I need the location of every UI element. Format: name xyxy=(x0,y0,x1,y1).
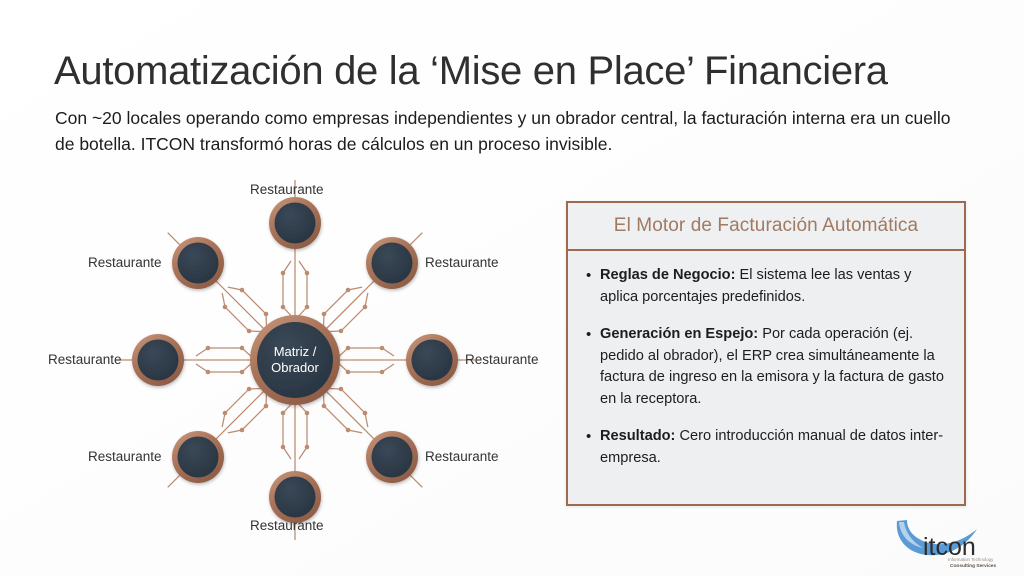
spoke-node-w[interactable] xyxy=(132,334,184,386)
spoke-node-se[interactable] xyxy=(366,431,418,483)
spoke-label-w: Restaurante xyxy=(48,352,122,368)
bullet-term: Resultado: xyxy=(600,428,675,444)
spoke-label-ne: Restaurante xyxy=(425,255,499,271)
slide-root: Automatización de la ‘Mise en Place’ Fin… xyxy=(0,0,1024,576)
bullet-item: • Generación en Espejo: Por cada operaci… xyxy=(586,324,944,410)
hub-label-line2: Obrador xyxy=(250,360,340,376)
info-panel-body: • Reglas de Negocio: El sistema lee las … xyxy=(568,251,964,479)
bullet-marker-icon: • xyxy=(586,324,600,410)
spoke-node-s[interactable] xyxy=(269,471,321,523)
spoke-label-n: Restaurante xyxy=(250,182,324,198)
bullet-item: • Reglas de Negocio: El sistema lee las … xyxy=(586,265,944,308)
info-panel-title: El Motor de Facturación Automática xyxy=(614,215,918,237)
itcon-logo: itcon Information Technology Consulting … xyxy=(893,511,1015,571)
spoke-node-sw[interactable] xyxy=(172,431,224,483)
bullet-marker-icon: • xyxy=(586,426,600,469)
spoke-label-s: Restaurante xyxy=(250,518,324,534)
bullet-marker-icon: • xyxy=(586,265,600,308)
bullet-item: • Resultado: Cero introducción manual de… xyxy=(586,426,944,469)
spoke-node-ne[interactable] xyxy=(366,237,418,289)
logo-tagline-line1: Information Technology xyxy=(948,557,994,562)
spoke-node-nw[interactable] xyxy=(172,237,224,289)
bullet-term: Reglas de Negocio: xyxy=(600,267,735,283)
itcon-logo-mark: itcon Information Technology Consulting … xyxy=(893,511,1015,571)
spoke-label-se: Restaurante xyxy=(425,449,499,465)
page-subtitle: Con ~20 locales operando como empresas i… xyxy=(55,106,960,157)
hub-label-line1: Matriz / xyxy=(250,344,340,360)
bullet-content: Reglas de Negocio: El sistema lee las ve… xyxy=(600,265,944,308)
spoke-node-n[interactable] xyxy=(269,197,321,249)
page-title: Automatización de la ‘Mise en Place’ Fin… xyxy=(54,47,888,95)
info-panel-header: El Motor de Facturación Automática xyxy=(568,203,964,251)
hub-spoke-diagram: Matriz / Obrador Restaurante Restaurante… xyxy=(30,170,570,550)
bullet-term: Generación en Espejo: xyxy=(600,326,758,342)
spoke-label-nw: Restaurante xyxy=(88,255,162,271)
spoke-label-sw: Restaurante xyxy=(88,449,162,465)
logo-tagline-line2: Consulting Services xyxy=(950,563,996,569)
hub-label: Matriz / Obrador xyxy=(250,344,340,376)
spoke-node-e[interactable] xyxy=(406,334,458,386)
info-panel: El Motor de Facturación Automática • Reg… xyxy=(566,201,966,506)
spoke-label-e: Restaurante xyxy=(465,352,539,368)
bullet-content: Resultado: Cero introducción manual de d… xyxy=(600,426,944,469)
bullet-content: Generación en Espejo: Por cada operación… xyxy=(600,324,944,410)
